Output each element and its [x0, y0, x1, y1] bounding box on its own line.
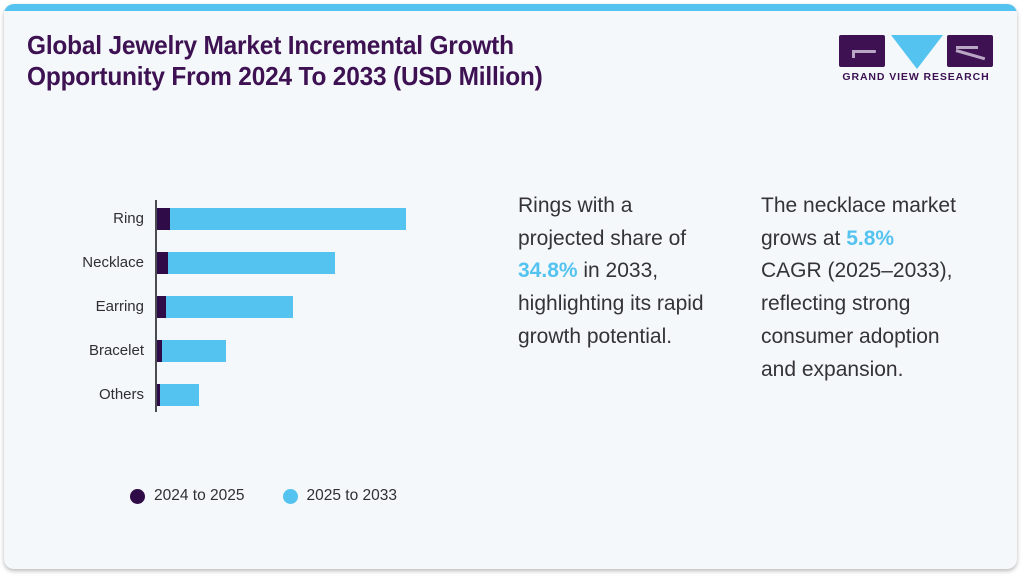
bar-stack-necklace[interactable] [157, 252, 335, 274]
bar-segment-2024-2025[interactable] [157, 296, 166, 318]
bar-stack-ring[interactable] [157, 208, 406, 230]
bar-row: Ring [4, 208, 474, 230]
bar-label-necklace: Necklace [4, 252, 144, 274]
bar-row: Others [4, 384, 474, 406]
bar-segment-2024-2025[interactable] [157, 252, 168, 274]
bar-row: Bracelet [4, 340, 474, 362]
bar-segment-2025-2033[interactable] [166, 296, 293, 318]
callout-necklace-cagr: The necklace market grows at 5.8% CAGR (… [761, 190, 956, 386]
callout-rings-share: Rings with a projected share of 34.8% in… [518, 190, 723, 354]
bar-label-bracelet: Bracelet [4, 340, 144, 362]
logo-mark [839, 35, 993, 67]
logo-g-icon [839, 35, 885, 67]
bar-label-earring: Earring [4, 296, 144, 318]
infographic-card: Global Jewelry Market Incremental Growth… [4, 4, 1017, 569]
logo-r-icon [947, 35, 993, 67]
bar-row: Earring [4, 296, 474, 318]
logo-v-triangle-icon [891, 35, 943, 69]
bar-segment-2025-2033[interactable] [162, 340, 226, 362]
bar-row: Necklace [4, 252, 474, 274]
bar-segment-2024-2025[interactable] [157, 208, 170, 230]
bar-segment-2025-2033[interactable] [160, 384, 199, 406]
logo-wordmark: GRAND VIEW RESEARCH [839, 71, 993, 83]
bar-stack-bracelet[interactable] [157, 340, 226, 362]
bar-stack-others[interactable] [157, 384, 199, 406]
grand-view-research-logo: GRAND VIEW RESEARCH [839, 35, 993, 89]
legend-label: 2025 to 2033 [307, 487, 398, 505]
bar-label-ring: Ring [4, 208, 144, 230]
legend-item[interactable]: 2024 to 2025 [130, 487, 245, 505]
callout-text-post: CAGR (2025–2033), reflecting strong cons… [761, 259, 952, 380]
legend-dot-icon [130, 489, 145, 504]
bar-segment-2025-2033[interactable] [168, 252, 335, 274]
stacked-bar-chart: RingNecklaceEarringBraceletOthers 2024 t… [4, 4, 474, 569]
bar-segment-2025-2033[interactable] [170, 208, 406, 230]
callout-highlight-value: 34.8% [518, 259, 578, 282]
legend-label: 2024 to 2025 [154, 487, 245, 505]
legend-dot-icon [283, 489, 298, 504]
callout-highlight-value: 5.8% [846, 227, 894, 250]
chart-legend: 2024 to 20252025 to 2033 [130, 486, 397, 506]
bar-label-others: Others [4, 384, 144, 406]
callout-text-pre: Rings with a projected share of [518, 194, 686, 250]
legend-item[interactable]: 2025 to 2033 [283, 487, 398, 505]
bar-stack-earring[interactable] [157, 296, 293, 318]
